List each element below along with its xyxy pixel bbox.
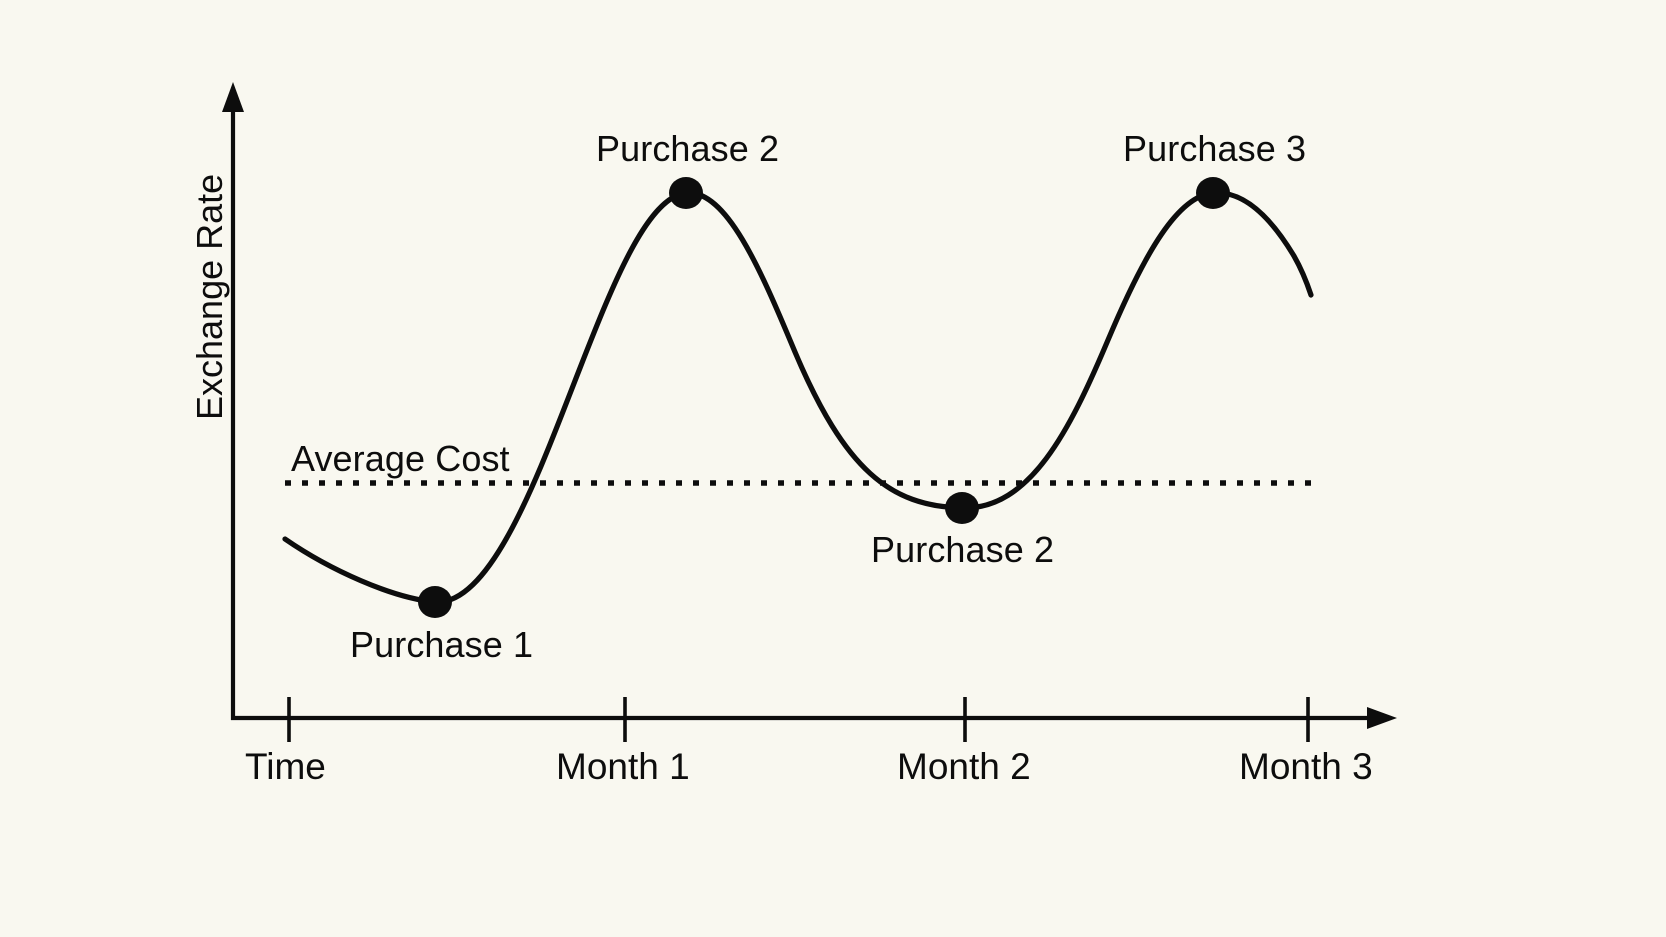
marker-purchase-2-trough (945, 492, 979, 524)
purchase-1-label: Purchase 1 (350, 627, 533, 663)
x-axis-arrow-icon (1367, 707, 1397, 729)
average-cost-label: Average Cost (291, 441, 510, 477)
y-axis-arrow-icon (222, 82, 244, 112)
marker-purchase-3 (1196, 177, 1230, 209)
purchase-3-label: Purchase 3 (1123, 131, 1306, 167)
purchase-markers (418, 177, 1230, 618)
x-tick-label-month-2: Month 2 (897, 748, 1031, 785)
marker-purchase-2-peak (669, 177, 703, 209)
exchange-rate-curve (285, 193, 1311, 602)
x-tick-label-time: Time (245, 748, 326, 785)
chart-canvas: Exchange Rate Average Cost Purchase 1 Pu… (0, 0, 1666, 937)
exchange-rate-line-chart (0, 0, 1666, 937)
purchase-2-peak-label: Purchase 2 (596, 131, 779, 167)
purchase-2-trough-label: Purchase 2 (871, 532, 1054, 568)
x-tick-label-month-1: Month 1 (556, 748, 690, 785)
y-axis-title: Exchange Rate (192, 174, 228, 420)
marker-purchase-1 (418, 586, 452, 618)
x-tick-label-month-3: Month 3 (1239, 748, 1373, 785)
x-axis (231, 707, 1397, 729)
